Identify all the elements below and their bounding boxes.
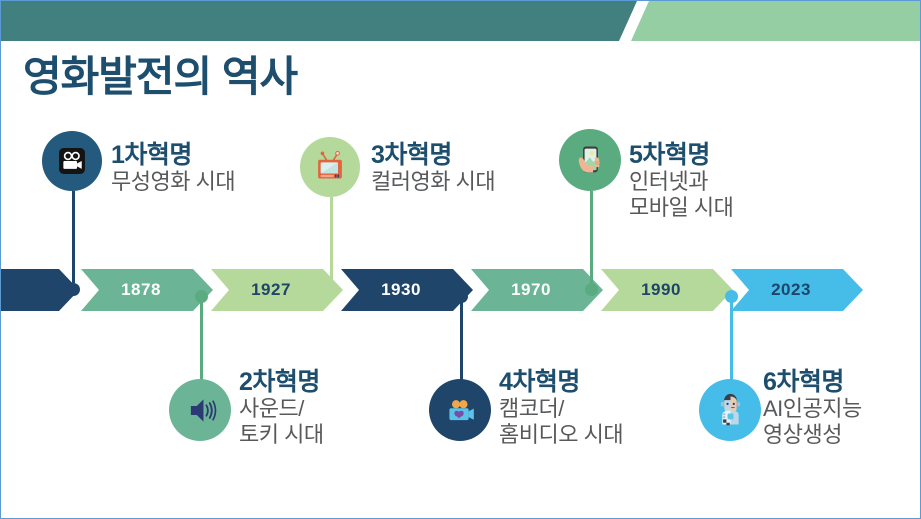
milestone-subtitle-line: 인터넷과: [629, 169, 733, 195]
icon-bubble-revolution-6[interactable]: [699, 379, 761, 441]
connector-line-1927: [200, 297, 203, 381]
timeline-year-label: 1878: [121, 280, 161, 300]
timeline-node-dot-1878[interactable]: [67, 283, 80, 296]
milestone-subtitle-line: 토키 시대: [239, 422, 324, 448]
retro-tv-icon: [312, 149, 348, 185]
icon-bubble-revolution-4[interactable]: [429, 379, 491, 441]
page-title: 영화발전의 역사: [23, 43, 297, 104]
ai-robot-icon: [712, 392, 749, 429]
icon-bubble-revolution-3[interactable]: [300, 137, 360, 197]
milestone-subtitle-line: AI인공지능: [763, 396, 862, 422]
milestone-text-revolution-1: 1차혁명무성영화 시대: [111, 141, 235, 195]
milestone-heading: 5차혁명: [629, 141, 733, 169]
timeline-year-label: 2023: [771, 280, 811, 300]
connector-line-2023: [730, 297, 733, 381]
milestone-heading: 4차혁명: [499, 368, 623, 396]
milestone-text-revolution-5: 5차혁명인터넷과모바일 시대: [629, 141, 733, 221]
icon-bubble-revolution-5[interactable]: [559, 129, 621, 191]
timeline-year-label: 1970: [511, 280, 551, 300]
camcorder-heart-icon: [442, 392, 479, 429]
timeline-segment-1878[interactable]: 1878: [81, 269, 213, 311]
timeline-segment-1930[interactable]: 1930: [341, 269, 473, 311]
timeline-year-label: 1990: [641, 280, 681, 300]
timeline-year-label: 1927: [251, 280, 291, 300]
milestone-heading: 2차혁명: [239, 368, 324, 396]
milestone-subtitle-line: 홈비디오 시대: [499, 422, 623, 448]
milestone-subtitle-line: 컬러영화 시대: [371, 169, 495, 195]
timeline-node-dot-1970[interactable]: [455, 290, 468, 303]
timeline-year-label: 1930: [381, 280, 421, 300]
milestone-subtitle-line: 무성영화 시대: [111, 169, 235, 195]
timeline-node-dot-1927[interactable]: [195, 290, 208, 303]
icon-bubble-revolution-1[interactable]: [42, 131, 102, 191]
connector-line-1990: [590, 191, 593, 283]
timeline-segment-2023[interactable]: 2023: [731, 269, 863, 311]
connector-line-1930: [330, 197, 333, 283]
milestone-text-revolution-2: 2차혁명사운드/토키 시대: [239, 368, 324, 448]
timeline-node-dot-1930[interactable]: [325, 283, 338, 296]
speaker-sound-icon: [182, 392, 219, 429]
connector-line-1878: [72, 191, 75, 283]
timeline-segment-1970[interactable]: 1970: [471, 269, 603, 311]
hand-holding-phone-icon: [572, 142, 609, 179]
connector-line-1970: [460, 297, 463, 381]
header-band-teal: [1, 1, 641, 41]
milestone-heading: 3차혁명: [371, 141, 495, 169]
milestone-subtitle-line: 캠코더/: [499, 396, 623, 422]
milestone-subtitle-line: 영상생성: [763, 422, 862, 448]
milestone-heading: 1차혁명: [111, 141, 235, 169]
milestone-text-revolution-3: 3차혁명컬러영화 시대: [371, 141, 495, 195]
timeline-node-dot-2023[interactable]: [725, 290, 738, 303]
milestone-subtitle-line: 사운드/: [239, 396, 324, 422]
milestone-text-revolution-4: 4차혁명캠코더/홈비디오 시대: [499, 368, 623, 448]
milestone-text-revolution-6: 6차혁명AI인공지능영상생성: [763, 368, 862, 448]
movie-camera-icon: [54, 143, 90, 179]
timeline-segment-1990[interactable]: 1990: [601, 269, 733, 311]
timeline-node-dot-1990[interactable]: [585, 283, 598, 296]
icon-bubble-revolution-2[interactable]: [169, 379, 231, 441]
infographic-slide: 영화발전의 역사 187819271930197019902023 1차혁명무성…: [0, 0, 921, 519]
timeline-segment-1927[interactable]: 1927: [211, 269, 343, 311]
milestone-heading: 6차혁명: [763, 368, 862, 396]
milestone-subtitle-line: 모바일 시대: [629, 195, 733, 221]
